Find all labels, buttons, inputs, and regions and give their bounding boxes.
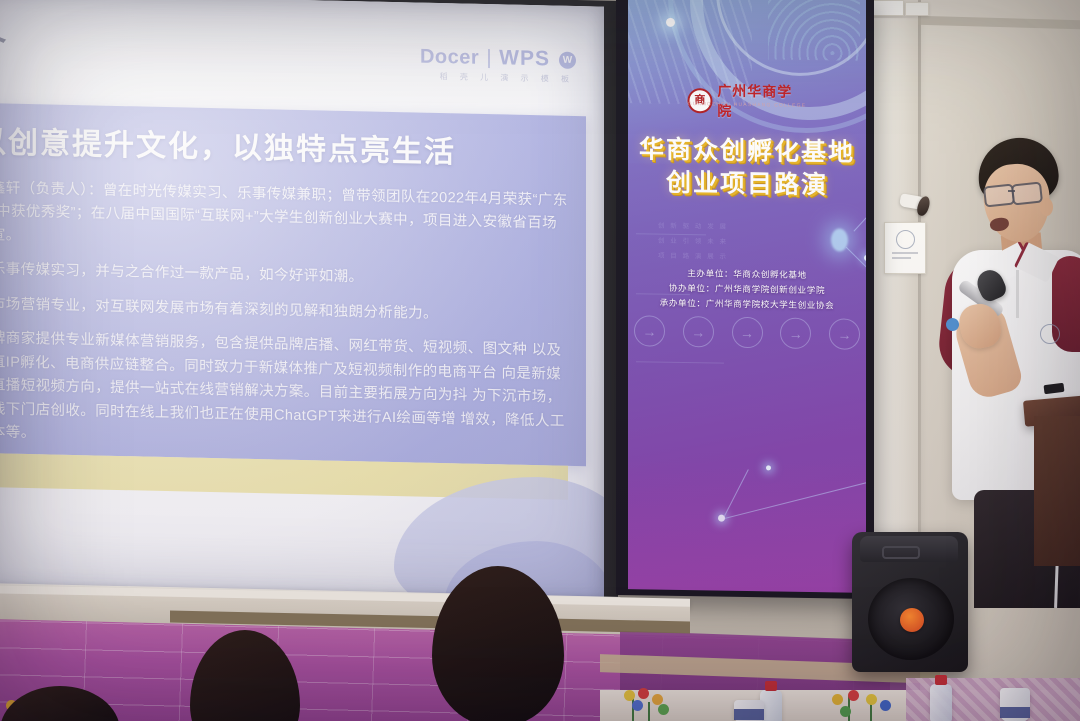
projection-screen: 介 Docer WPS W 稻 壳 儿 演 示 模 板 以创意提升文化，以独特点… — [0, 0, 618, 627]
banner-title-line: 华商众创孵化基地 — [628, 133, 866, 170]
docer-logo-text: Docer — [420, 45, 479, 69]
eyeglasses-bridge — [1008, 190, 1015, 192]
slide-title: 以创意提升文化，以独特点亮生活 — [0, 117, 456, 171]
eyeglasses-icon — [1011, 181, 1043, 205]
flower-arrangement — [822, 690, 908, 721]
water-bottle — [930, 684, 952, 721]
wps-badge-icon: W — [559, 51, 576, 68]
cup-band — [734, 709, 764, 720]
pa-handle-icon — [882, 546, 920, 559]
slide-header-text: 介 — [0, 17, 7, 67]
banner-line-graphic — [636, 361, 724, 363]
slide-paragraph: 在乐事传媒实习，并与之合作过一款产品，如今好评如潮。 — [0, 258, 570, 294]
slide-paragraph: 自市场营销专业，对互联网发展市场有着深刻的见解和独朗分析能力。 — [0, 293, 570, 329]
slide-paragraph: 叶鑫轩（负责人）：曾在时光传媒实习、乐事传媒兼职；曾带领团队在2022年4月荣获… — [0, 177, 570, 260]
cup-band — [1000, 707, 1030, 718]
arrow-right-icon: → — [634, 315, 665, 346]
flower-arrangement — [612, 688, 682, 721]
organizer-line: 承办单位：广州华商学院校大学生创业协会 — [628, 295, 866, 314]
presentation-slide: 介 Docer WPS W 稻 壳 儿 演 示 模 板 以创意提升文化，以独特点… — [0, 0, 604, 599]
banner-title-line: 创业项目路演 — [628, 166, 866, 203]
wps-logo-text: WPS — [499, 46, 550, 71]
eyeglasses-icon — [983, 183, 1015, 207]
fingerprint-graphic — [768, 0, 860, 61]
wps-watermark: Docer WPS W — [420, 45, 576, 72]
pa-brand-badge — [900, 608, 924, 632]
banner-title: 华商众创孵化基地 创业项目路演 — [628, 133, 866, 203]
arrow-right-icon: → — [780, 318, 811, 349]
banner-bottom-glow — [628, 459, 866, 593]
paper-cup — [734, 700, 764, 721]
shirt-emblem-icon — [1040, 324, 1060, 344]
light-spark-icon — [666, 18, 675, 27]
network-node-icon — [864, 255, 866, 261]
bottle-cap — [765, 681, 777, 691]
presenter-placket — [1016, 270, 1019, 318]
watermark-subtext: 稻 壳 儿 演 示 模 板 — [440, 71, 574, 85]
notice-sign — [872, 0, 904, 16]
arrow-right-icon: → — [732, 317, 763, 348]
logo-divider — [488, 49, 490, 68]
screen-surface: 介 Docer WPS W 稻 壳 儿 演 示 模 板 以创意提升文化，以独特点… — [0, 0, 604, 599]
presenter-ear — [1040, 198, 1053, 216]
banner-surface: 商 广州华商学院 GUANGZHOU HUASHANG COLLEGE 华商众创… — [628, 0, 866, 593]
slide-paragraph: 品牌商家提供专业新媒体营销服务，包含提供品牌店播、网红带货、短视频、图文种 以及… — [0, 327, 570, 457]
rollup-banner: 商 广州华商学院 GUANGZHOU HUASHANG COLLEGE 华商众创… — [616, 0, 874, 599]
bottle-cap — [935, 675, 947, 685]
slide-header: 介 Docer WPS W 稻 壳 儿 演 示 模 板 — [0, 0, 604, 115]
arrow-icon-row: → → → → → — [634, 315, 860, 350]
banner-faint-text: 创 新 驱 动 发 展 创 业 引 领 未 来 项 目 路 演 展 示 — [658, 220, 826, 267]
arrow-right-icon: → — [829, 318, 860, 349]
sign-logo-icon — [896, 230, 915, 249]
faint-line: 项 目 路 演 展 示 — [658, 250, 826, 268]
lectern-body — [1034, 416, 1080, 566]
conference-photo-scene: 介 Docer WPS W 稻 壳 儿 演 示 模 板 以创意提升文化，以独特点… — [0, 0, 1080, 721]
fire-safety-sign — [884, 222, 926, 274]
banner-organizers: 主办单位：华商众创孵化基地 协办单位：广州华商学院创新创业学院 承办单位：广州华… — [628, 265, 866, 313]
arrow-right-icon: → — [683, 316, 714, 347]
notice-sign — [905, 2, 929, 16]
slide-content-card: 以创意提升文化，以独特点亮生活 叶鑫轩（负责人）：曾在时光传媒实习、乐事传媒兼职… — [0, 103, 586, 466]
paper-cup — [1000, 688, 1030, 721]
slide-body: 叶鑫轩（负责人）：曾在时光传媒实习、乐事传媒兼职；曾带领团队在2022年4月荣获… — [0, 177, 570, 469]
